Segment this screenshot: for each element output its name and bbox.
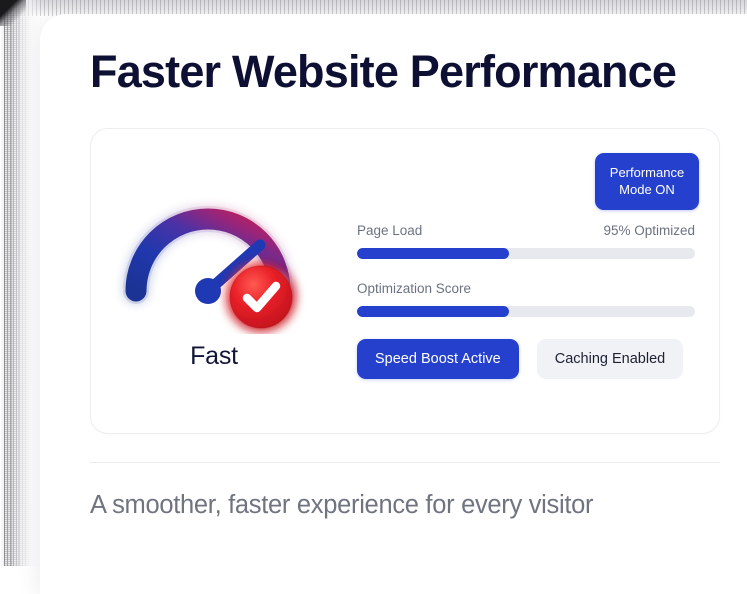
speed-boost-chip[interactable]: Speed Boost Active (357, 339, 519, 379)
page-corner-shadow (0, 0, 26, 26)
caching-enabled-chip[interactable]: Caching Enabled (537, 339, 683, 379)
progress-bar-fill (357, 306, 509, 317)
performance-mode-badge-line1: Performance (610, 165, 684, 180)
main-card: Faster Website Performance Performance M… (40, 14, 747, 594)
metrics-block: Page Load 95% Optimized Optimization Sco… (357, 223, 695, 379)
footer-divider (90, 462, 720, 463)
metric-label: Page Load (357, 223, 422, 238)
speed-gauge-icon (114, 169, 314, 334)
metric-label: Optimization Score (357, 281, 471, 296)
progress-bar-track (357, 248, 695, 259)
performance-panel: Performance Mode ON (90, 128, 720, 434)
page-title: Faster Website Performance (90, 48, 720, 96)
progress-bar-fill (357, 248, 509, 259)
metric-page-load: Page Load 95% Optimized (357, 223, 695, 259)
page-edge-left-texture (0, 0, 42, 566)
footer-caption: A smoother, faster experience for every … (90, 491, 720, 520)
check-circle-icon (230, 266, 292, 328)
performance-mode-badge[interactable]: Performance Mode ON (595, 153, 699, 210)
metric-optimization-score: Optimization Score (357, 281, 695, 317)
gauge-status-label: Fast (109, 342, 319, 371)
chip-row: Speed Boost Active Caching Enabled (357, 339, 695, 379)
gauge-block: Fast (109, 169, 319, 371)
metric-value: 95% Optimized (603, 223, 695, 238)
progress-bar-track (357, 306, 695, 317)
performance-mode-badge-line2: Mode ON (619, 182, 675, 197)
